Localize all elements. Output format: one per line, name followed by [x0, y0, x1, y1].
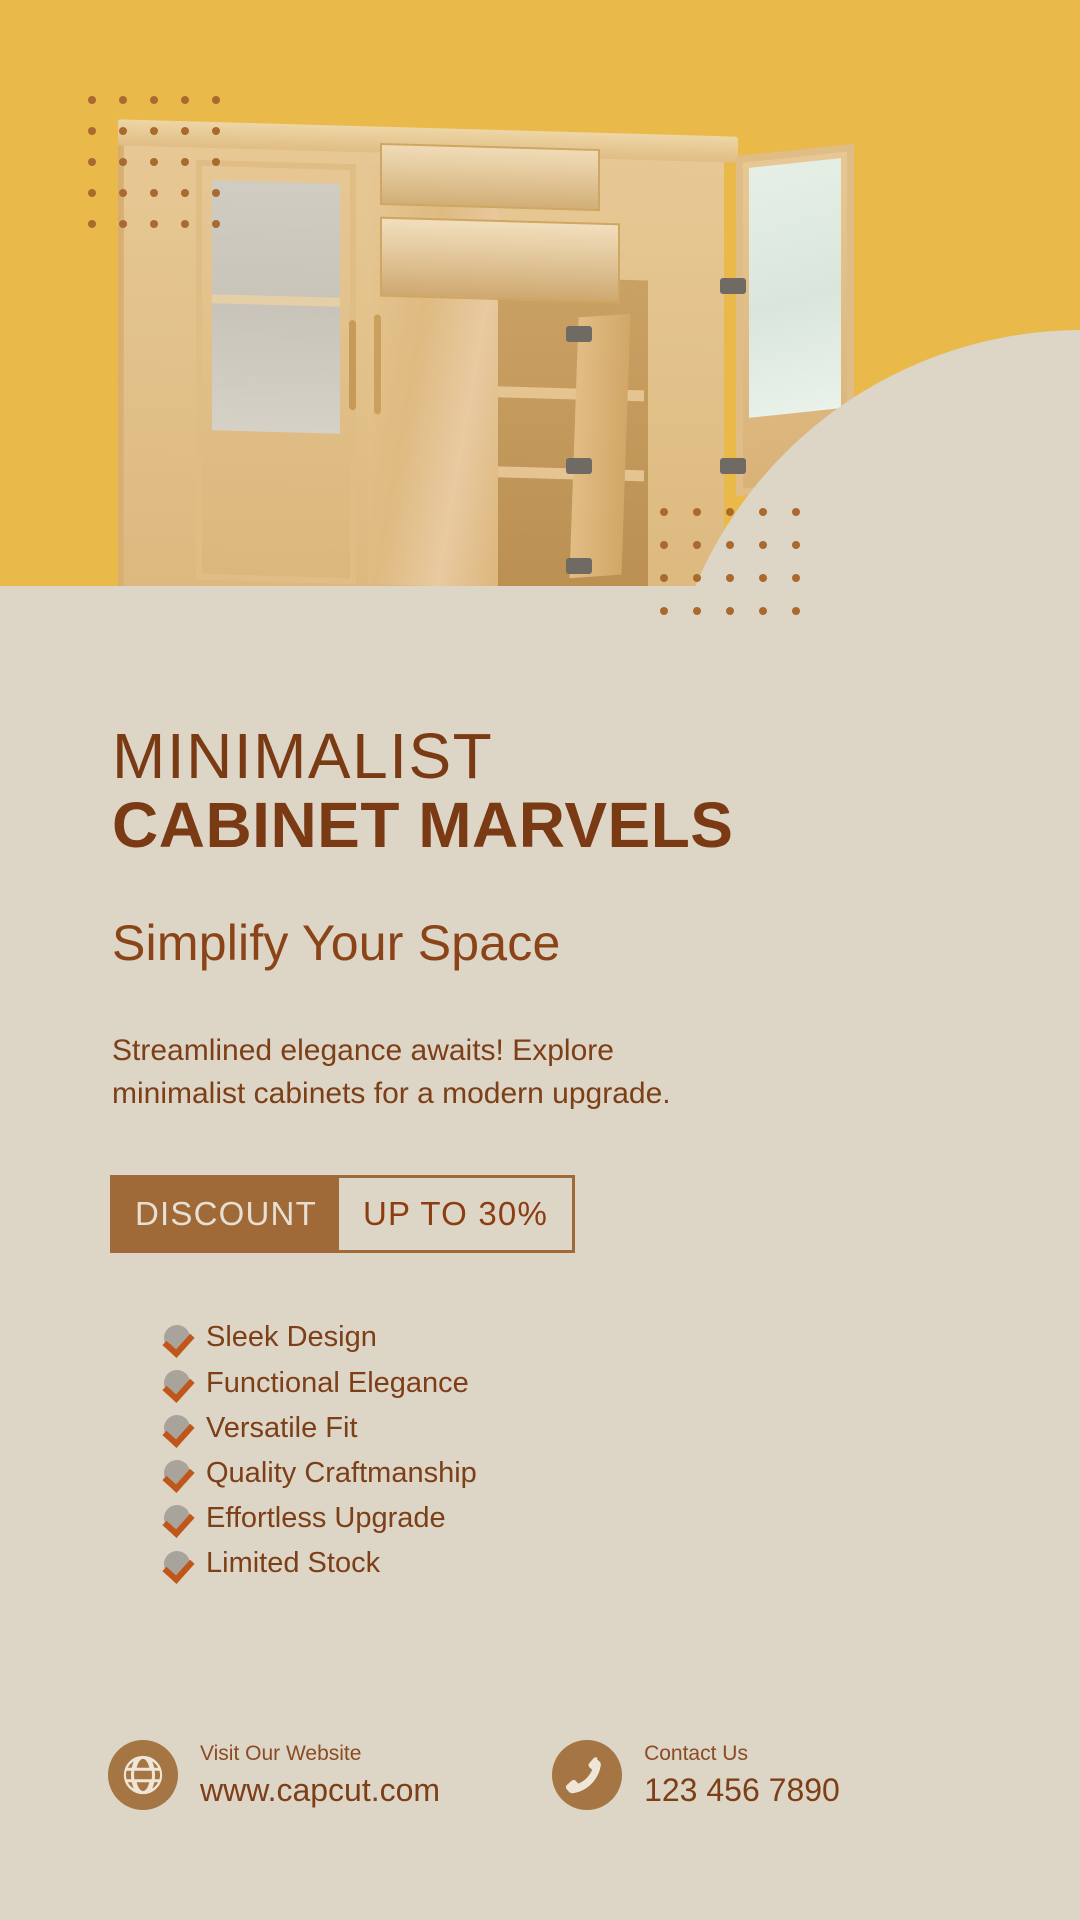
globe-icon: [108, 1740, 178, 1810]
contact-label: Contact Us: [644, 1738, 840, 1770]
list-item: Functional Elegance: [164, 1365, 1080, 1402]
hero-bottom-strip: [0, 586, 1080, 722]
check-circle-icon: [164, 1551, 190, 1577]
phone-text: Contact Us 123 456 7890: [644, 1738, 840, 1811]
hinge-icon: [720, 278, 746, 294]
check-circle-icon: [164, 1325, 190, 1351]
check-circle-icon: [164, 1370, 190, 1396]
check-circle-icon: [164, 1460, 190, 1486]
phone-icon: [552, 1740, 622, 1810]
door-handle: [349, 320, 356, 410]
feature-label: Sleek Design: [206, 1319, 377, 1356]
website-contact-block[interactable]: Visit Our Website www.capcut.com: [108, 1738, 440, 1811]
phone-number[interactable]: 123 456 7890: [644, 1770, 840, 1812]
feature-list: Sleek Design Functional Elegance Versati…: [164, 1319, 1080, 1582]
website-label: Visit Our Website: [200, 1738, 440, 1770]
cabinet-drawer-top: [380, 143, 600, 211]
dot-pattern-top-left: [88, 96, 243, 251]
subheadline: Simplify Your Space: [112, 914, 1080, 972]
discount-badge: DISCOUNT UP TO 30%: [110, 1175, 575, 1253]
phone-contact-block[interactable]: Contact Us 123 456 7890: [552, 1738, 840, 1811]
promo-poster: MINIMALIST CABINET MARVELS Simplify Your…: [0, 0, 1080, 1920]
feature-label: Effortless Upgrade: [206, 1500, 446, 1537]
hinge-icon: [566, 326, 592, 342]
footer-section: Visit Our Website www.capcut.com Contact…: [0, 1680, 1080, 1870]
feature-label: Versatile Fit: [206, 1410, 358, 1447]
website-text: Visit Our Website www.capcut.com: [200, 1738, 440, 1811]
page-title: MINIMALIST CABINET MARVELS: [112, 722, 1080, 860]
feature-label: Quality Craftmanship: [206, 1455, 477, 1492]
website-url[interactable]: www.capcut.com: [200, 1770, 440, 1812]
cabinet-open-door: [569, 314, 630, 578]
hinge-icon: [566, 458, 592, 474]
discount-value: UP TO 30%: [339, 1178, 572, 1250]
list-item: Versatile Fit: [164, 1410, 1080, 1447]
drawer-face: [382, 219, 618, 302]
list-item: Effortless Upgrade: [164, 1500, 1080, 1537]
dot-pattern-bottom-right: [660, 508, 825, 640]
feature-label: Limited Stock: [206, 1545, 380, 1582]
hinge-icon: [566, 558, 592, 574]
hinge-icon: [720, 458, 746, 474]
check-circle-icon: [164, 1505, 190, 1531]
drawer-face: [382, 145, 598, 209]
content-section: MINIMALIST CABINET MARVELS Simplify Your…: [0, 722, 1080, 1590]
feature-label: Functional Elegance: [206, 1365, 469, 1402]
list-item: Sleek Design: [164, 1319, 1080, 1356]
list-item: Quality Craftmanship: [164, 1455, 1080, 1492]
mirror-pane: [749, 158, 841, 418]
discount-label: DISCOUNT: [113, 1178, 339, 1250]
check-circle-icon: [164, 1415, 190, 1441]
cabinet-drawer-second: [380, 217, 620, 304]
headline-line-2: CABINET MARVELS: [112, 791, 1080, 860]
description-text: Streamlined elegance awaits! Explore min…: [112, 1030, 752, 1115]
headline-line-1: MINIMALIST: [112, 722, 1080, 791]
list-item: Limited Stock: [164, 1545, 1080, 1582]
door-handle: [374, 314, 381, 414]
